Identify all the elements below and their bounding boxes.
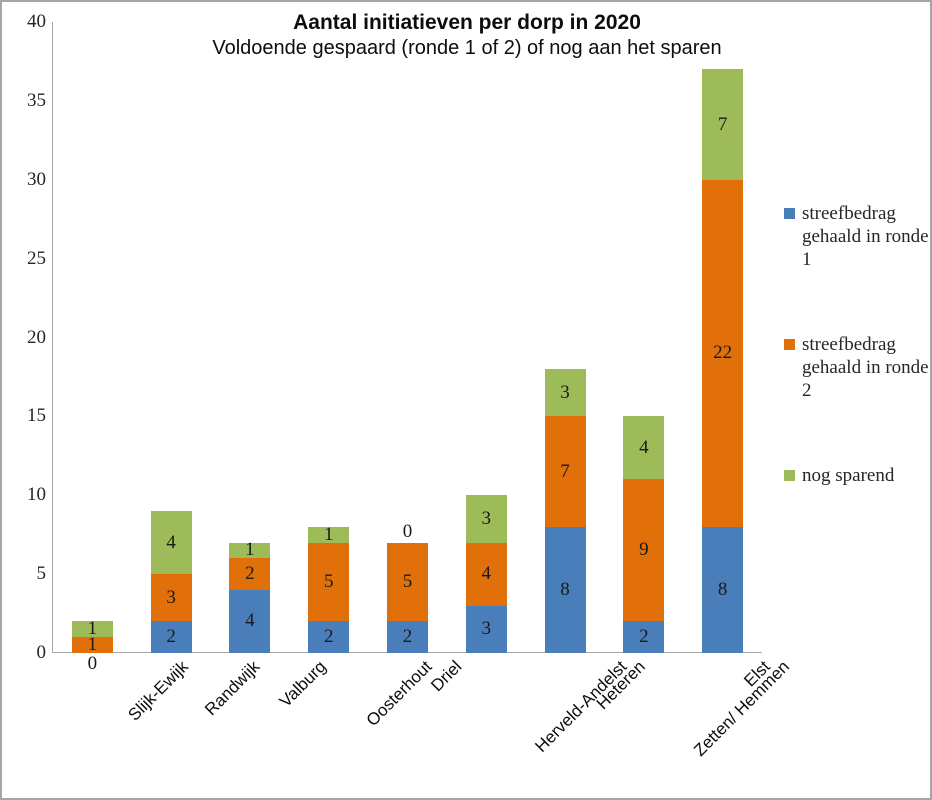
bar-segment[interactable]: 7 xyxy=(702,69,743,179)
legend-label: streefbedrag gehaald in ronde 2 xyxy=(802,333,929,402)
stacked-bar[interactable]: 152 xyxy=(308,527,349,653)
y-axis-tick-label: 15 xyxy=(2,405,46,427)
bar-segment[interactable]: 7 xyxy=(545,416,586,526)
bar-value-label: 2 xyxy=(308,626,349,648)
bar-group: 052 xyxy=(387,22,428,653)
bar-value-label: 2 xyxy=(151,626,192,648)
bar-segment[interactable]: 4 xyxy=(151,511,192,574)
bar-group: 124 xyxy=(229,22,270,653)
x-axis-tick-label: Randwijk xyxy=(201,657,264,720)
x-axis-tick-label: Herveld-Andelst xyxy=(531,657,631,757)
bar-segment[interactable]: 4 xyxy=(229,590,270,653)
bar-value-label: 2 xyxy=(623,626,664,648)
x-axis-tick-label: Oosterhout xyxy=(363,657,437,731)
legend-label: nog sparend xyxy=(802,464,894,487)
y-axis: 0510152025303540 xyxy=(2,22,46,653)
x-axis-tick-label: Valburg xyxy=(276,657,331,712)
bar-value-label: 3 xyxy=(466,618,507,640)
bar-group: 110 xyxy=(72,22,113,653)
bar-segment[interactable]: 9 xyxy=(623,479,664,621)
legend-swatch-icon xyxy=(784,339,795,350)
bar-value-label: 22 xyxy=(702,342,743,364)
bar-segment[interactable]: 8 xyxy=(545,527,586,653)
legend-label: streefbedrag gehaald in ronde 1 xyxy=(802,202,929,271)
bar-segment[interactable]: 2 xyxy=(151,621,192,653)
legend-item[interactable]: streefbedrag gehaald in ronde 2 xyxy=(784,333,929,402)
chart-container: Aantal initiatieven per dorp in 2020 Vol… xyxy=(0,0,932,800)
bar-value-label: 4 xyxy=(466,563,507,585)
bar-segment[interactable]: 2 xyxy=(308,621,349,653)
stacked-bar[interactable]: 7228 xyxy=(702,69,743,653)
bar-segment[interactable]: 5 xyxy=(387,543,428,622)
bar-value-label: 9 xyxy=(623,539,664,561)
stacked-bar[interactable]: 124 xyxy=(229,543,270,653)
bar-value-label: 1 xyxy=(72,634,113,656)
bar-segment[interactable]: 4 xyxy=(466,543,507,606)
bar-group: 378 xyxy=(545,22,586,653)
bar-segment[interactable]: 1 xyxy=(229,543,270,559)
bar-value-label: 3 xyxy=(466,508,507,530)
y-axis-tick-label: 25 xyxy=(2,248,46,270)
bar-value-label: 3 xyxy=(151,587,192,609)
x-axis: Slijk-EwijkRandwijkValburgOosterhoutDrie… xyxy=(53,657,762,797)
bar-segment[interactable]: 1 xyxy=(308,527,349,543)
stacked-bar[interactable]: 432 xyxy=(151,511,192,653)
bar-value-label: 4 xyxy=(229,610,270,632)
bar-group: 152 xyxy=(308,22,349,653)
x-axis-tick-label: Driel xyxy=(427,657,466,696)
chart-legend: streefbedrag gehaald in ronde 1streefbed… xyxy=(784,202,929,549)
bar-value-label: 7 xyxy=(545,461,586,483)
bar-segment[interactable]: 3 xyxy=(466,495,507,542)
bar-value-label: 4 xyxy=(151,532,192,554)
stacked-bar[interactable]: 343 xyxy=(466,495,507,653)
bar-value-label: 2 xyxy=(229,563,270,585)
bar-series-group: 1104321241520523433784927228 xyxy=(53,22,762,653)
bar-value-label: 4 xyxy=(623,437,664,459)
bar-group: 343 xyxy=(466,22,507,653)
y-axis-tick-label: 10 xyxy=(2,484,46,506)
bar-segment[interactable]: 22 xyxy=(702,180,743,527)
stacked-bar[interactable]: 052 xyxy=(387,543,428,653)
bar-value-label: 8 xyxy=(545,579,586,601)
bar-segment[interactable]: 3 xyxy=(151,574,192,621)
bar-segment[interactable]: 1 xyxy=(72,637,113,653)
bar-value-label: 0 xyxy=(387,521,428,543)
y-axis-tick-label: 20 xyxy=(2,327,46,349)
bar-segment[interactable]: 5 xyxy=(308,543,349,622)
bar-value-label: 5 xyxy=(387,571,428,593)
bar-segment[interactable]: 3 xyxy=(545,369,586,416)
bar-group: 492 xyxy=(623,22,664,653)
stacked-bar[interactable]: 110 xyxy=(72,621,113,653)
bar-segment[interactable]: 2 xyxy=(387,621,428,653)
legend-item[interactable]: nog sparend xyxy=(784,464,929,487)
y-axis-tick-label: 35 xyxy=(2,90,46,112)
bar-value-label: 8 xyxy=(702,579,743,601)
stacked-bar[interactable]: 378 xyxy=(545,369,586,653)
bar-segment[interactable]: 4 xyxy=(623,416,664,479)
bar-segment[interactable]: 3 xyxy=(466,606,507,653)
bar-group: 7228 xyxy=(702,22,743,653)
y-axis-tick-label: 0 xyxy=(2,642,46,664)
legend-swatch-icon xyxy=(784,470,795,481)
bar-value-label: 5 xyxy=(308,571,349,593)
bar-segment[interactable]: 8 xyxy=(702,527,743,653)
bar-value-label: 3 xyxy=(545,382,586,404)
y-axis-tick-label: 30 xyxy=(2,169,46,191)
legend-swatch-icon xyxy=(784,208,795,219)
stacked-bar[interactable]: 492 xyxy=(623,416,664,653)
bar-group: 432 xyxy=(151,22,192,653)
bar-value-label: 2 xyxy=(387,626,428,648)
y-axis-tick-label: 40 xyxy=(2,11,46,33)
bar-segment[interactable]: 2 xyxy=(229,558,270,590)
bar-value-label: 7 xyxy=(702,114,743,136)
legend-item[interactable]: streefbedrag gehaald in ronde 1 xyxy=(784,202,929,271)
x-axis-tick-label: Zetten/ Hemmen xyxy=(690,657,794,761)
bar-segment[interactable]: 2 xyxy=(623,621,664,653)
bar-segment[interactable]: 1 xyxy=(72,621,113,637)
x-axis-tick-label: Slijk-Ewijk xyxy=(124,657,192,725)
y-axis-tick-label: 5 xyxy=(2,563,46,585)
